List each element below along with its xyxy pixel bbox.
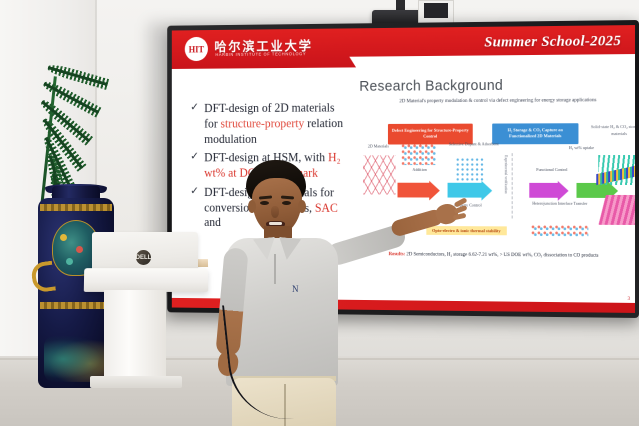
presenter-nose — [271, 206, 279, 218]
label-axis: Experimental verification — [504, 155, 508, 193]
room-scene: HIT 哈尔滨工业大学 HARBIN INSTITUTE OF TECHNOLO… — [0, 0, 639, 426]
flow-arrow-cyan — [448, 183, 493, 198]
wall-frame-inner — [424, 3, 448, 18]
results-text: 2D Semiconductors, H₂ storage 6.62-7.21 … — [406, 252, 598, 258]
results-line: Results: 2D Semiconductors, H₂ storage 6… — [359, 251, 629, 261]
vase-flower-motif — [76, 246, 83, 253]
dell-logo: DELL — [136, 250, 151, 265]
label-storage-props: H₂ wt% uptake — [561, 145, 602, 151]
vase-gold-band — [40, 204, 112, 211]
hit-shield-icon: HIT — [185, 37, 208, 61]
presenter-teeth — [269, 222, 282, 225]
arrow-shaft — [576, 183, 607, 198]
presenter-eye — [282, 201, 291, 205]
flow-arrow-red — [398, 183, 440, 198]
list-item: ✓ DFT-design of 2D materials for structu… — [190, 101, 349, 147]
presenter-shirt-emblem: N — [292, 284, 299, 293]
structure-3d-bottom — [599, 195, 636, 225]
flow-arrow-magenta — [529, 183, 568, 198]
label-dopant-adsorbent: Selective Dopant & Adsorbent — [444, 141, 504, 147]
vase-flower-motif — [66, 258, 73, 265]
arrow-head — [481, 180, 492, 200]
slide-diagram: 2D Material's property modulation & cont… — [359, 97, 629, 297]
slide-title: Research Background — [359, 78, 503, 95]
podium-base — [90, 376, 182, 388]
arrow-shaft — [448, 183, 482, 198]
diagram-divider — [512, 153, 513, 218]
bullet-text-highlight: structure-property — [221, 116, 305, 130]
vase-flower-motif — [60, 234, 67, 241]
presenter-ear — [298, 200, 306, 213]
diagram-side-note: Solid-state H₂ & CO₂ storage 2D material… — [588, 124, 635, 138]
university-logo: HIT — [183, 36, 211, 63]
label-addition: Addition — [401, 167, 438, 173]
label-heterojunction: Heterojunction Interface Transfer — [529, 201, 590, 207]
arrow-shaft — [529, 183, 557, 198]
slide-page-number: 3 — [628, 297, 630, 302]
podium-top — [84, 268, 208, 292]
diagram-box-storage-capture: H₂ Storage & CO₂ Capture on Functionaliz… — [492, 123, 578, 144]
event-title: Summer School-2025 — [484, 33, 621, 51]
arrow-head — [429, 180, 440, 200]
presenter-ear — [248, 200, 256, 213]
dopant-dot-field — [401, 143, 436, 165]
diagram-highlight-note: Opto-electro & ionic thermal stability — [426, 226, 506, 235]
check-icon: ✓ — [190, 102, 199, 116]
vase-gold-band — [40, 302, 112, 309]
arrow-head — [558, 180, 569, 200]
thermal-dot-field — [531, 225, 588, 237]
arrow-shaft — [398, 183, 430, 198]
vase-gold-handle — [30, 261, 56, 294]
presenter-shirt-placket — [274, 254, 276, 284]
podium-column — [104, 290, 166, 386]
university-name-en: HARBIN INSTITUTE OF TECHNOLOGY — [215, 51, 306, 57]
presenter-eye — [260, 201, 269, 205]
label-functional-control: Functional Control — [523, 167, 580, 173]
slide-header-notch — [346, 54, 635, 70]
label-2d-materials: 2D Materials — [359, 144, 397, 150]
diagram-caption: 2D Material's property modulation & cont… — [376, 97, 620, 106]
